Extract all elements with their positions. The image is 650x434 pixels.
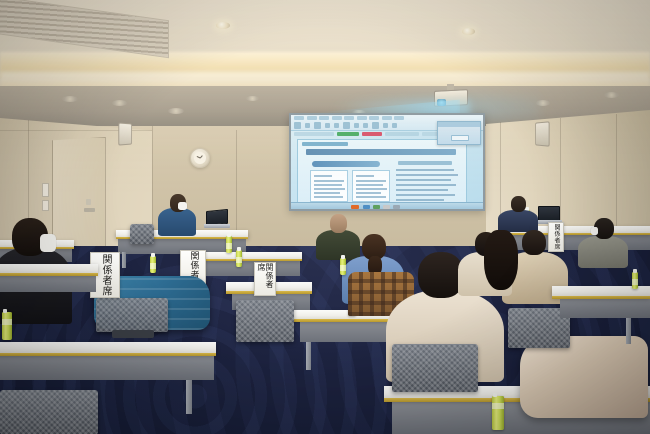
clock-minute-hand [197, 156, 201, 159]
green-tea-bottle[interactable] [150, 256, 156, 273]
ribbon-tab[interactable] [319, 116, 329, 120]
attendee-head [522, 230, 546, 255]
mesh-office-chair[interactable] [236, 300, 294, 342]
slide-blue-banner [312, 161, 380, 167]
green-tea-bottle[interactable] [236, 250, 242, 267]
ribbon-icon[interactable] [363, 123, 368, 128]
slide-title-bar [306, 149, 456, 155]
ribbon-icon[interactable] [383, 123, 388, 128]
downlight [462, 28, 475, 35]
desk-edge [0, 353, 216, 356]
slide-section-header [302, 142, 348, 146]
wall-speaker-left [118, 122, 132, 145]
dialog-ok-button[interactable] [451, 135, 469, 141]
attendee-top [498, 210, 538, 232]
presenter-jacket [158, 208, 196, 236]
ribbon-tab[interactable] [369, 116, 379, 120]
dialog-title-bar [438, 122, 480, 127]
mesh-office-chair[interactable] [392, 344, 478, 392]
beige-coat-on-chair[interactable] [520, 336, 648, 418]
ribbon-chip-red[interactable] [362, 132, 382, 136]
ribbon-tab[interactable] [394, 116, 404, 120]
ribbon-chip [385, 132, 419, 136]
ribbon-tab-row [294, 116, 404, 120]
green-tea-bottle[interactable] [340, 258, 346, 275]
downlight [604, 92, 619, 98]
slide-content-box-left [310, 170, 348, 202]
windows-taskbar [291, 202, 483, 209]
ribbon-tab[interactable] [357, 116, 367, 120]
presenter-face-mask [178, 202, 187, 210]
projection-screen [289, 113, 485, 211]
laptop [538, 206, 560, 221]
analog-wall-clock [190, 148, 210, 168]
taskbar-item[interactable] [351, 205, 359, 209]
slide-right-text-column [396, 169, 460, 203]
chair-base [112, 330, 154, 338]
taskbar-item[interactable] [373, 205, 380, 209]
ribbon-icon[interactable] [294, 122, 301, 129]
downlight [216, 22, 230, 29]
ribbon-chip-green[interactable] [337, 132, 359, 136]
taskbar-item[interactable] [393, 205, 400, 209]
wall-speaker-right [535, 121, 549, 146]
ribbon-chip [294, 132, 334, 136]
desk-leg [122, 252, 126, 268]
screen-surface [291, 115, 483, 209]
attendee-head [330, 214, 347, 233]
desk-edge [192, 259, 302, 261]
attendee-face-mask [40, 234, 56, 252]
desk-leg [186, 380, 192, 414]
desk-edge [0, 273, 98, 276]
desk-skirt [560, 296, 650, 318]
entrance-door[interactable] [52, 137, 106, 251]
mesh-office-chair[interactable] [130, 224, 154, 244]
ribbon-tab[interactable] [344, 116, 354, 120]
green-tea-bottle[interactable] [492, 396, 504, 430]
seminar-room-photo: 関係者席 関係者席 [0, 0, 650, 434]
downlight [112, 100, 127, 106]
ribbon-tab[interactable] [382, 116, 392, 120]
attendee-top [316, 230, 360, 260]
ribbon-icon[interactable] [354, 123, 359, 128]
slide-canvas [297, 139, 467, 205]
ribbon-icon[interactable] [392, 123, 397, 128]
downlight [168, 108, 184, 114]
desk-edge [552, 296, 650, 299]
ribbon-tab[interactable] [307, 116, 317, 120]
ribbon-tab[interactable] [332, 116, 342, 120]
downlight [62, 96, 78, 102]
slide-content-box-right [352, 170, 390, 202]
ribbon-icon[interactable] [314, 122, 321, 129]
ribbon-icon[interactable] [343, 122, 350, 129]
slide-right-heading [398, 161, 452, 165]
attendee-head [511, 196, 526, 212]
green-tea-bottle[interactable] [632, 272, 638, 289]
downlight [246, 96, 259, 101]
attendee-hair [484, 230, 518, 290]
ribbon-tab[interactable] [294, 116, 304, 120]
floating-dialog[interactable] [437, 121, 481, 145]
ribbon-icon-row [294, 122, 397, 129]
ribbon-icon[interactable] [372, 122, 379, 129]
attendee-top [578, 236, 628, 268]
door-handle[interactable] [84, 208, 95, 212]
light-switch-plate[interactable] [42, 183, 49, 197]
ribbon-icon[interactable] [334, 123, 339, 128]
desk-skirt [0, 352, 214, 380]
desk-leg [626, 318, 631, 344]
door-lock-icon [86, 199, 91, 205]
taskbar-item[interactable] [363, 205, 370, 209]
desk-leg [306, 342, 311, 370]
clock-face [194, 152, 206, 164]
ribbon-icon[interactable] [305, 123, 310, 128]
mesh-office-chair[interactable] [0, 390, 98, 434]
presenter-laptop-base [204, 224, 230, 228]
reserved-seat-sign: 関係者席 [254, 262, 276, 296]
light-switch-plate[interactable] [42, 200, 49, 211]
ribbon-icon[interactable] [325, 123, 330, 128]
green-tea-bottle[interactable] [226, 236, 232, 253]
mesh-office-chair[interactable] [96, 298, 168, 332]
reserved-seat-sign: 関係者席 [548, 222, 564, 252]
green-tea-bottle[interactable] [2, 312, 12, 340]
attendee-face-mask [591, 227, 598, 235]
taskbar-item[interactable] [383, 205, 390, 209]
